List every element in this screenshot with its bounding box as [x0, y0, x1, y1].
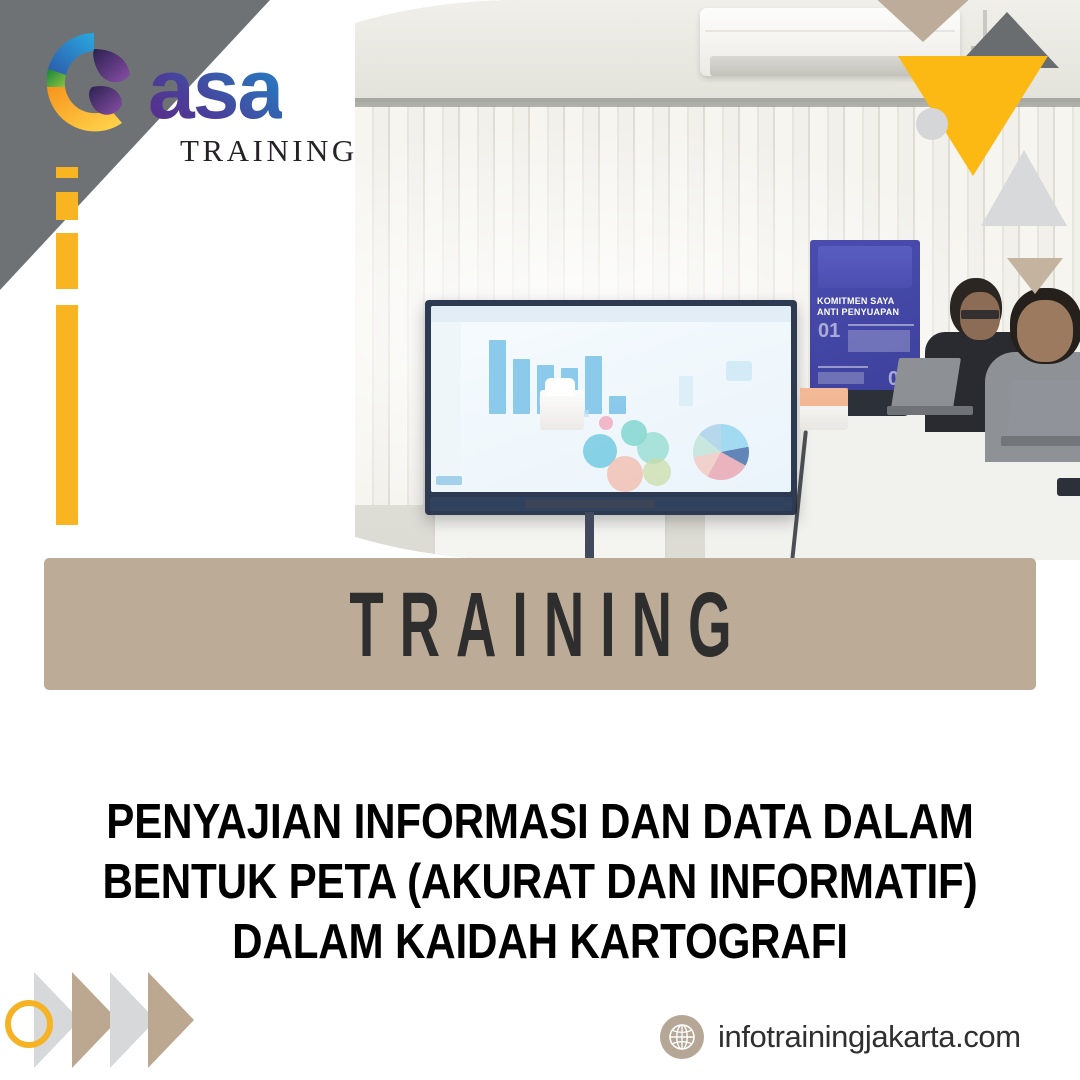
white-triangle-icon — [981, 150, 1067, 226]
title-line-2: BENTUK PETA (AKURAT DAN INFORMATIF) — [76, 852, 1005, 912]
pie-chart — [693, 424, 749, 480]
training-banner: TRAINING — [44, 558, 1036, 690]
banner-line1: KOMITMEN SAYA — [817, 296, 894, 306]
yellow-bar-1 — [56, 167, 78, 178]
chevron-4 — [148, 972, 194, 1068]
gray-circle-icon — [916, 108, 948, 140]
yellow-bar-2 — [56, 192, 78, 220]
brand-logo[interactable]: asa TRAINING — [30, 25, 360, 170]
yellow-bar-4 — [56, 305, 78, 525]
poster-canvas: KOMITMEN SAYAANTI PENYUAPAN 01 02 — [0, 0, 1080, 1080]
tissue-box-1 — [540, 390, 584, 430]
website-url[interactable]: infotrainingjakarta.com — [718, 1019, 1021, 1055]
asa-circular-logo-icon — [30, 25, 158, 153]
course-title: PENYAJIAN INFORMASI DAN DATA DALAM BENTU… — [0, 792, 1080, 972]
training-banner-label: TRAINING — [333, 570, 747, 677]
banner-line2: ANTI PENYUAPAN — [817, 307, 899, 317]
globe-icon — [660, 1015, 704, 1059]
laptop-2 — [1006, 380, 1080, 438]
interactive-smartboard — [425, 300, 797, 515]
brand-tagline: TRAINING — [180, 133, 358, 169]
banner-step1: 01 — [818, 320, 840, 343]
orange-ring-icon — [5, 1000, 53, 1048]
title-line-3: DALAM KAIDAH KARTOGRAFI — [76, 912, 1005, 972]
brand-name: asa — [148, 47, 282, 131]
website-footer[interactable]: infotrainingjakarta.com — [660, 1008, 1021, 1066]
presentation-screen — [431, 306, 791, 492]
laptop-1 — [891, 358, 961, 408]
title-line-1: PENYAJIAN INFORMASI DAN DATA DALAM — [76, 792, 1005, 852]
yellow-bar-3 — [56, 233, 78, 289]
phone-on-table — [1057, 478, 1080, 496]
small-tan-triangle-icon — [1007, 258, 1063, 294]
